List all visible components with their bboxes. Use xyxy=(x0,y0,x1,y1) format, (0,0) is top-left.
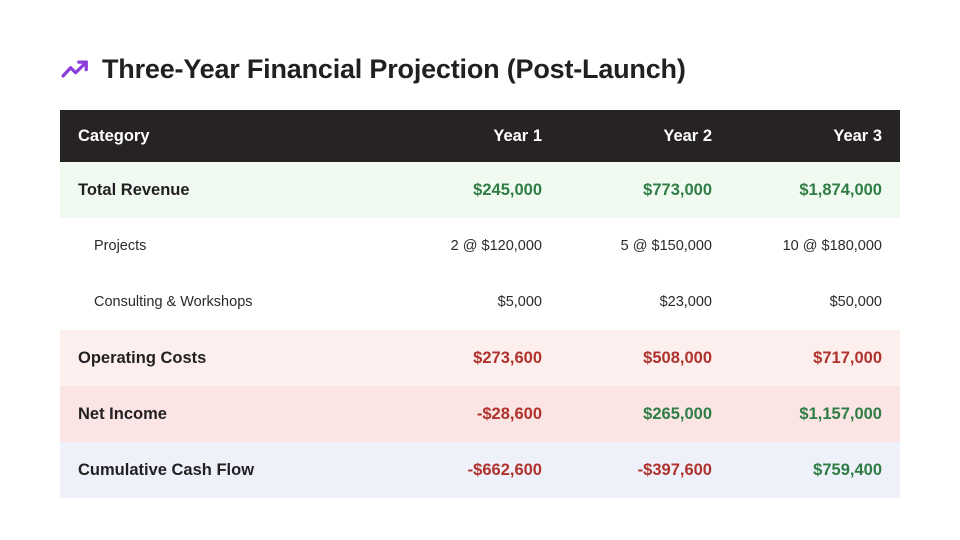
column-header-year-2: Year 2 xyxy=(560,110,730,162)
slide-canvas: Three-Year Financial Projection (Post-La… xyxy=(0,0,960,540)
slide-title-row: Three-Year Financial Projection (Post-La… xyxy=(60,48,686,90)
cell-projects-year-3: 10 @ $180,000 xyxy=(730,218,900,274)
table-row: Projects 2 @ $120,000 5 @ $150,000 10 @ … xyxy=(60,218,900,274)
table-row: Net Income -$28,600 $265,000 $1,157,000 xyxy=(60,386,900,442)
column-header-year-1: Year 1 xyxy=(390,110,560,162)
cell-cumulative-cash-flow-year-1: -$662,600 xyxy=(390,442,560,498)
cell-net-income-year-1: -$28,600 xyxy=(390,386,560,442)
table-header: Category Year 1 Year 2 Year 3 xyxy=(60,110,900,162)
cell-total-revenue-year-2: $773,000 xyxy=(560,162,730,218)
cell-projects-year-2: 5 @ $150,000 xyxy=(560,218,730,274)
financial-projection-table-wrap: Category Year 1 Year 2 Year 3 Total Reve… xyxy=(60,110,900,498)
table-row: Consulting & Workshops $5,000 $23,000 $5… xyxy=(60,274,900,330)
row-label-projects: Projects xyxy=(60,218,390,274)
row-label-net-income: Net Income xyxy=(60,386,390,442)
table-body: Total Revenue $245,000 $773,000 $1,874,0… xyxy=(60,162,900,498)
cell-operating-costs-year-3: $717,000 xyxy=(730,330,900,386)
cell-net-income-year-3: $1,157,000 xyxy=(730,386,900,442)
page-title: Three-Year Financial Projection (Post-La… xyxy=(102,56,686,83)
cell-projects-year-1: 2 @ $120,000 xyxy=(390,218,560,274)
cell-operating-costs-year-1: $273,600 xyxy=(390,330,560,386)
row-label-total-revenue: Total Revenue xyxy=(60,162,390,218)
cell-net-income-year-2: $265,000 xyxy=(560,386,730,442)
cell-consulting-year-1: $5,000 xyxy=(390,274,560,330)
financial-projection-table: Category Year 1 Year 2 Year 3 Total Reve… xyxy=(60,110,900,498)
cell-cumulative-cash-flow-year-3: $759,400 xyxy=(730,442,900,498)
cell-operating-costs-year-2: $508,000 xyxy=(560,330,730,386)
row-label-operating-costs: Operating Costs xyxy=(60,330,390,386)
table-header-row: Category Year 1 Year 2 Year 3 xyxy=(60,110,900,162)
table-row: Total Revenue $245,000 $773,000 $1,874,0… xyxy=(60,162,900,218)
column-header-year-3: Year 3 xyxy=(730,110,900,162)
column-header-category: Category xyxy=(60,110,390,162)
cell-cumulative-cash-flow-year-2: -$397,600 xyxy=(560,442,730,498)
table-row: Cumulative Cash Flow -$662,600 -$397,600… xyxy=(60,442,900,498)
cell-consulting-year-3: $50,000 xyxy=(730,274,900,330)
cell-total-revenue-year-1: $245,000 xyxy=(390,162,560,218)
trending-up-icon xyxy=(60,54,90,84)
row-label-consulting-workshops: Consulting & Workshops xyxy=(60,274,390,330)
row-label-cumulative-cash-flow: Cumulative Cash Flow xyxy=(60,442,390,498)
cell-consulting-year-2: $23,000 xyxy=(560,274,730,330)
table-row: Operating Costs $273,600 $508,000 $717,0… xyxy=(60,330,900,386)
cell-total-revenue-year-3: $1,874,000 xyxy=(730,162,900,218)
